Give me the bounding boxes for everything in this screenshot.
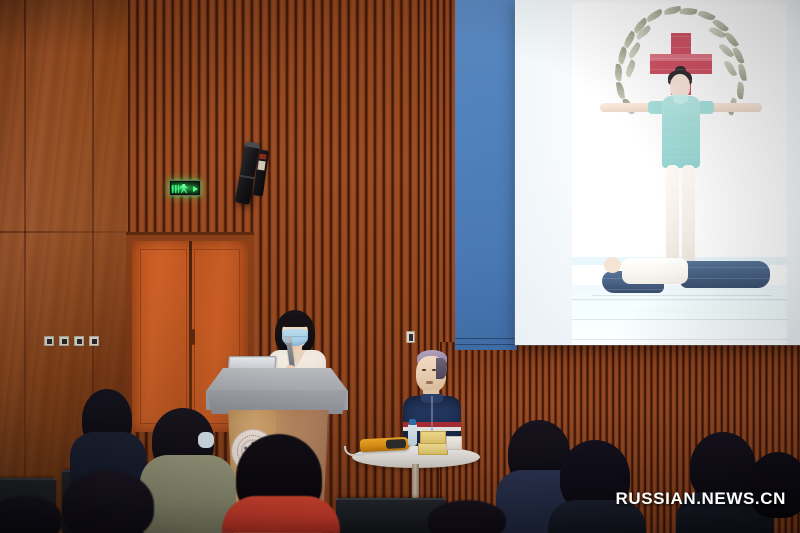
first-aid-kit-box-2: [418, 443, 448, 455]
wall-switch[interactable]: [44, 336, 54, 346]
hand-sanitizer-bottle: [408, 424, 417, 446]
watermark: RUSSIAN.NEWS.CN: [615, 489, 786, 509]
blue-wall-panel: [455, 0, 517, 350]
wall-seam: [0, 231, 128, 233]
wall-seam: [24, 0, 26, 533]
attendee-head: [62, 470, 154, 533]
attendee-head: [428, 500, 506, 533]
attendee-red-jacket: [222, 496, 340, 533]
wall-switch[interactable]: [89, 336, 99, 346]
slide-patient-figure: [592, 255, 772, 300]
slide-content: [572, 3, 787, 333]
supply-box: [446, 436, 462, 450]
projection-screen: [515, 0, 800, 345]
wall-switch-panel[interactable]: [44, 336, 99, 346]
attendee-mask-side: [198, 432, 214, 448]
emergency-exit-sign: [169, 180, 201, 196]
aed-defibrillator: [360, 437, 411, 453]
wall-switch[interactable]: [74, 336, 84, 346]
wall-switch[interactable]: [59, 336, 69, 346]
wall-outlet[interactable]: [406, 331, 415, 343]
attendee-olive-jacket: [140, 455, 236, 533]
photo-scene: RUSSIAN.NEWS.CN: [0, 0, 800, 533]
